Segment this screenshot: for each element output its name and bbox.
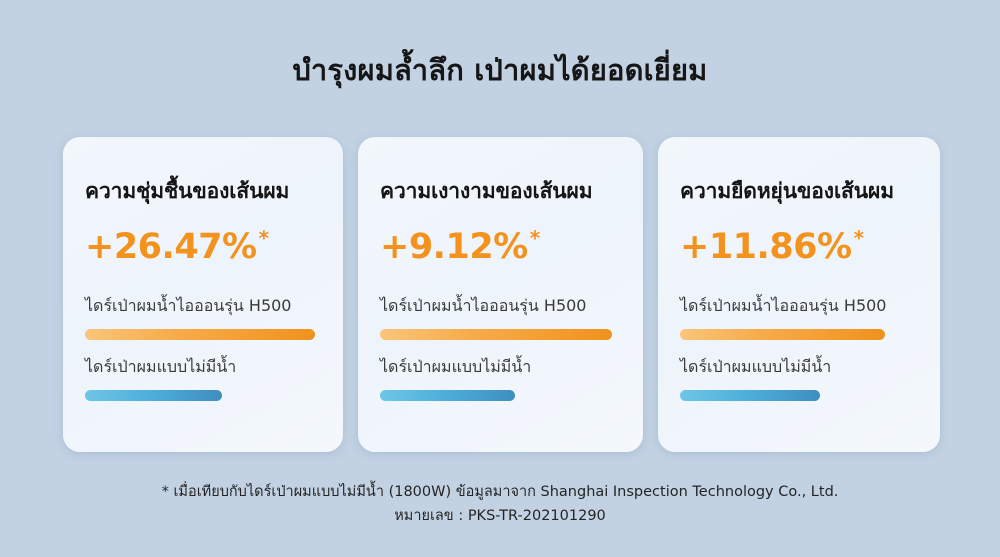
footnote-line-2: หมายเลข : PKS-TR-202101290 [0,504,1000,528]
card-content: ความยืดหยุ่นของเส้นผม +11.86%* ไดร์เป่าผ… [680,137,924,452]
bar-nonwater [85,390,222,401]
footnote: * เมื่อเทียบกับไดร์เป่าผมแบบไม่มีน้ำ (18… [0,480,1000,528]
stat-card-shine: ความเงางามของเส้นผม +9.12%* ไดร์เป่าผมน้… [358,137,643,452]
card-percentage: +11.86%* [680,227,864,267]
bar-h500 [380,329,612,340]
card-heading: ความยืดหยุ่นของเส้นผม [680,175,894,208]
percentage-value: +9.12% [380,227,528,267]
bar-label-nonwater: ไดร์เป่าผมแบบไม่มีน้ำ [85,355,236,380]
stat-card-elasticity: ความยืดหยุ่นของเส้นผม +11.86%* ไดร์เป่าผ… [658,137,940,452]
asterisk-marker: * [530,226,540,250]
bar-label-h500: ไดร์เป่าผมน้ำไอออนรุ่น H500 [680,294,886,319]
bar-h500 [85,329,315,340]
stat-card-moisture: ความชุ่มชื้นของเส้นผม +26.47%* ไดร์เป่าผ… [63,137,343,452]
bar-nonwater [380,390,515,401]
asterisk-marker: * [259,226,269,250]
bar-label-h500: ไดร์เป่าผมน้ำไอออนรุ่น H500 [380,294,586,319]
percentage-value: +11.86% [680,227,852,267]
bar-label-nonwater: ไดร์เป่าผมแบบไม่มีน้ำ [380,355,531,380]
page-title: บำรุงผมล้ำลึก เป่าผมได้ยอดเยี่ยม [0,50,1000,90]
bar-label-h500: ไดร์เป่าผมน้ำไอออนรุ่น H500 [85,294,291,319]
card-percentage: +26.47%* [85,227,269,267]
footnote-line-1: * เมื่อเทียบกับไดร์เป่าผมแบบไม่มีน้ำ (18… [162,484,839,500]
card-content: ความชุ่มชื้นของเส้นผม +26.47%* ไดร์เป่าผ… [85,137,327,452]
card-percentage: +9.12%* [380,227,540,267]
percentage-value: +26.47% [85,227,257,267]
card-content: ความเงางามของเส้นผม +9.12%* ไดร์เป่าผมน้… [380,137,627,452]
bar-nonwater [680,390,820,401]
stat-card-group: ความชุ่มชื้นของเส้นผม +26.47%* ไดร์เป่าผ… [63,137,940,452]
asterisk-marker: * [854,226,864,250]
card-heading: ความเงางามของเส้นผม [380,175,593,208]
bar-h500 [680,329,885,340]
bar-label-nonwater: ไดร์เป่าผมแบบไม่มีน้ำ [680,355,831,380]
card-heading: ความชุ่มชื้นของเส้นผม [85,175,289,208]
